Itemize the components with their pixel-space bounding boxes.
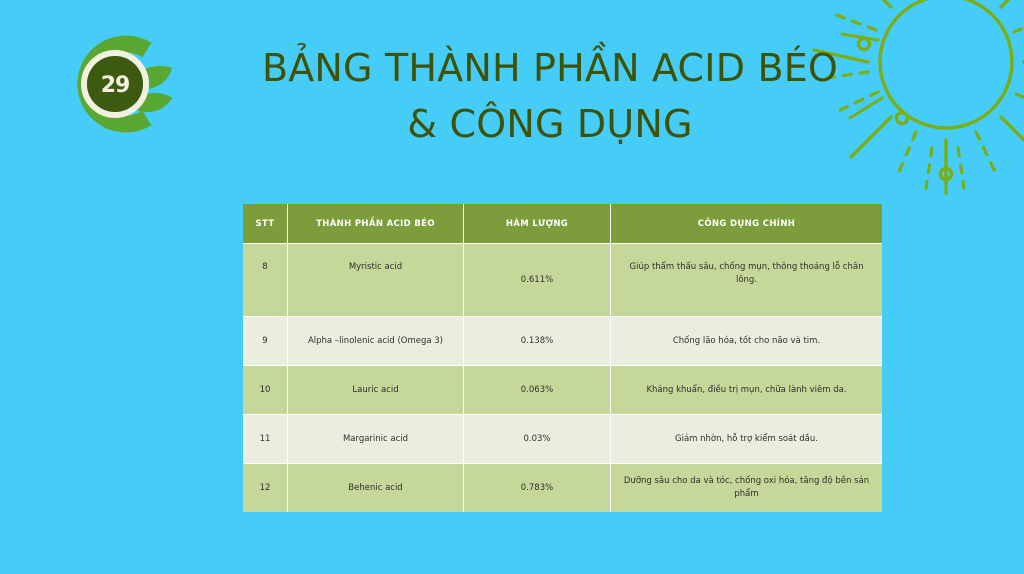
- logo-number: 29: [101, 73, 130, 98]
- cell-use: Giảm nhờn, hỗ trợ kiểm soát dầu.: [611, 415, 882, 464]
- page-title-line-2: & CÔNG DỤNG: [212, 96, 888, 152]
- cell-use: Dưỡng sâu cho da và tóc, chống oxi hóa, …: [611, 464, 882, 512]
- table-row: 11 Margarinic acid 0.03% Giảm nhờn, hỗ t…: [243, 415, 882, 464]
- column-header-use: CÔNG DỤNG CHÍNH: [611, 204, 882, 244]
- cell-amount: 0.03%: [464, 415, 611, 464]
- cell-stt: 10: [243, 366, 288, 415]
- cell-stt: 8: [243, 244, 288, 317]
- cell-amount: 0.063%: [464, 366, 611, 415]
- cell-stt: 9: [243, 317, 288, 366]
- cell-name: Lauric acid: [288, 366, 464, 415]
- slide-canvas: 29 BẢNG THÀNH PHẦN ACID BÉO & CÔNG DỤNG …: [0, 0, 1024, 574]
- table-row: 12 Behenic acid 0.783% Dưỡng sâu cho da …: [243, 464, 882, 512]
- cell-name: Alpha –linolenic acid (Omega 3): [288, 317, 464, 366]
- cell-use: Giúp thẩm thấu sâu, chống mụn, thông tho…: [611, 244, 882, 317]
- fatty-acid-table: STT THÀNH PHẦN ACID BÉO HÀM LƯỢNG CÔNG D…: [243, 204, 882, 512]
- cell-use: Chống lão hóa, tốt cho não và tim.: [611, 317, 882, 366]
- page-title-line-1: BẢNG THÀNH PHẦN ACID BÉO: [212, 40, 888, 96]
- cell-name: Margarinic acid: [288, 415, 464, 464]
- table-row: 9 Alpha –linolenic acid (Omega 3) 0.138%…: [243, 317, 882, 366]
- column-header-amount: HÀM LƯỢNG: [464, 204, 611, 244]
- cell-use: Kháng khuẩn, điều trị mụn, chữa lành viê…: [611, 366, 882, 415]
- cell-amount: 0.611%: [464, 244, 611, 317]
- column-header-stt: STT: [243, 204, 288, 244]
- cell-stt: 12: [243, 464, 288, 512]
- page-title: BẢNG THÀNH PHẦN ACID BÉO & CÔNG DỤNG: [212, 40, 888, 152]
- brand-logo: 29: [52, 28, 184, 140]
- table-header-row: STT THÀNH PHẦN ACID BÉO HÀM LƯỢNG CÔNG D…: [243, 204, 882, 244]
- table-row: 8 Myristic acid 0.611% Giúp thẩm thấu sâ…: [243, 244, 882, 317]
- cell-amount: 0.138%: [464, 317, 611, 366]
- cell-name: Myristic acid: [288, 244, 464, 317]
- column-header-name: THÀNH PHẦN ACID BÉO: [288, 204, 464, 244]
- cell-amount: 0.783%: [464, 464, 611, 512]
- cell-stt: 11: [243, 415, 288, 464]
- table-row: 10 Lauric acid 0.063% Kháng khuẩn, điều …: [243, 366, 882, 415]
- cell-name: Behenic acid: [288, 464, 464, 512]
